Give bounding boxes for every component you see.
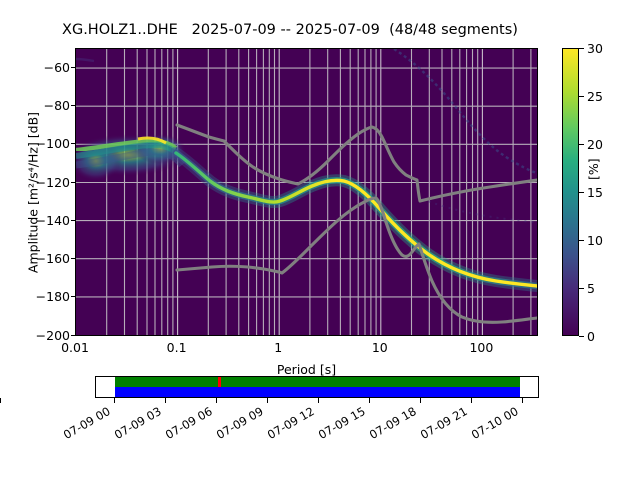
x-axis-title: Period [s] xyxy=(75,362,538,377)
colorbar-tickmark xyxy=(579,192,584,193)
x-tick-label-3: 10 xyxy=(372,340,388,355)
colorbar-label-1: 5 xyxy=(587,281,595,296)
colorbar-tickmark xyxy=(579,144,584,145)
colorbar-title: [%] xyxy=(586,140,601,180)
timeline-tickmark xyxy=(114,398,115,403)
timeline-tickmark xyxy=(267,398,268,403)
colorbar-tickmark xyxy=(579,48,584,49)
timeline-available-bar xyxy=(115,387,520,397)
timeline-label-0: 07-09 00 xyxy=(61,404,113,442)
timeline-tickmark xyxy=(216,398,217,403)
ppsd-canvas xyxy=(76,49,537,335)
timeline-tickmark xyxy=(369,398,370,403)
y-tickmark xyxy=(71,67,76,68)
timeline-label-4: 07-09 12 xyxy=(265,404,317,442)
psd-lowperiod-cloud xyxy=(76,134,186,181)
colorbar-label-2: 10 xyxy=(587,233,603,248)
ppsd-plot-area xyxy=(75,48,538,336)
timeline-label-2: 07-09 06 xyxy=(163,404,215,442)
y-tickmark xyxy=(71,182,76,183)
timeline-label-6: 07-09 18 xyxy=(367,404,419,442)
x-tick-label-2: 1 xyxy=(274,340,282,355)
colorbar-label-0: 0 xyxy=(587,329,595,344)
colorbar-label-5: 25 xyxy=(587,89,603,104)
y-tickmark xyxy=(71,335,76,336)
timeline-current-marker[interactable] xyxy=(218,377,221,387)
colorbar-tickmark xyxy=(579,288,584,289)
timeline-tickmark xyxy=(318,398,319,403)
colorbar-label-6: 30 xyxy=(587,41,603,56)
timeline-tickmark xyxy=(420,398,421,403)
timeline-tickmark xyxy=(165,398,166,403)
colorbar-tickmark xyxy=(579,336,584,337)
timeline-tickmark xyxy=(471,398,472,403)
y-tickmark xyxy=(71,296,76,297)
y-tickmark xyxy=(71,105,76,106)
colorbar-tickmark xyxy=(579,96,584,97)
colorbar xyxy=(562,48,579,336)
page-title: XG.HOLZ1..DHE 2025-07-09 -- 2025-07-09 (… xyxy=(0,22,580,38)
timeline-label-3: 07-09 09 xyxy=(214,404,266,442)
timeline-used-bar xyxy=(115,377,520,387)
colorbar-label-3: 15 xyxy=(587,185,603,200)
y-axis-title: Amplitude [m²/s⁴/Hz] [dB] xyxy=(26,48,41,338)
timeline-label-8: 07-10 00 xyxy=(469,404,521,442)
timeline-label-1: 07-09 03 xyxy=(112,404,164,442)
y-tickmark xyxy=(71,220,76,221)
x-tick-label-0: 0.01 xyxy=(61,340,89,355)
low-noise-model-curve xyxy=(177,198,537,322)
x-tick-label-4: 100 xyxy=(469,340,493,355)
timeline-tickmark xyxy=(522,398,523,403)
segment-timeline[interactable] xyxy=(95,376,539,398)
y-tickmark xyxy=(71,258,76,259)
x-tick-label-1: 0.1 xyxy=(167,340,187,355)
y-tickmark xyxy=(71,143,76,144)
colorbar-tickmark xyxy=(579,240,584,241)
timeline-label-7: 07-09 21 xyxy=(418,404,470,442)
timeline-label-5: 07-09 15 xyxy=(316,404,368,442)
